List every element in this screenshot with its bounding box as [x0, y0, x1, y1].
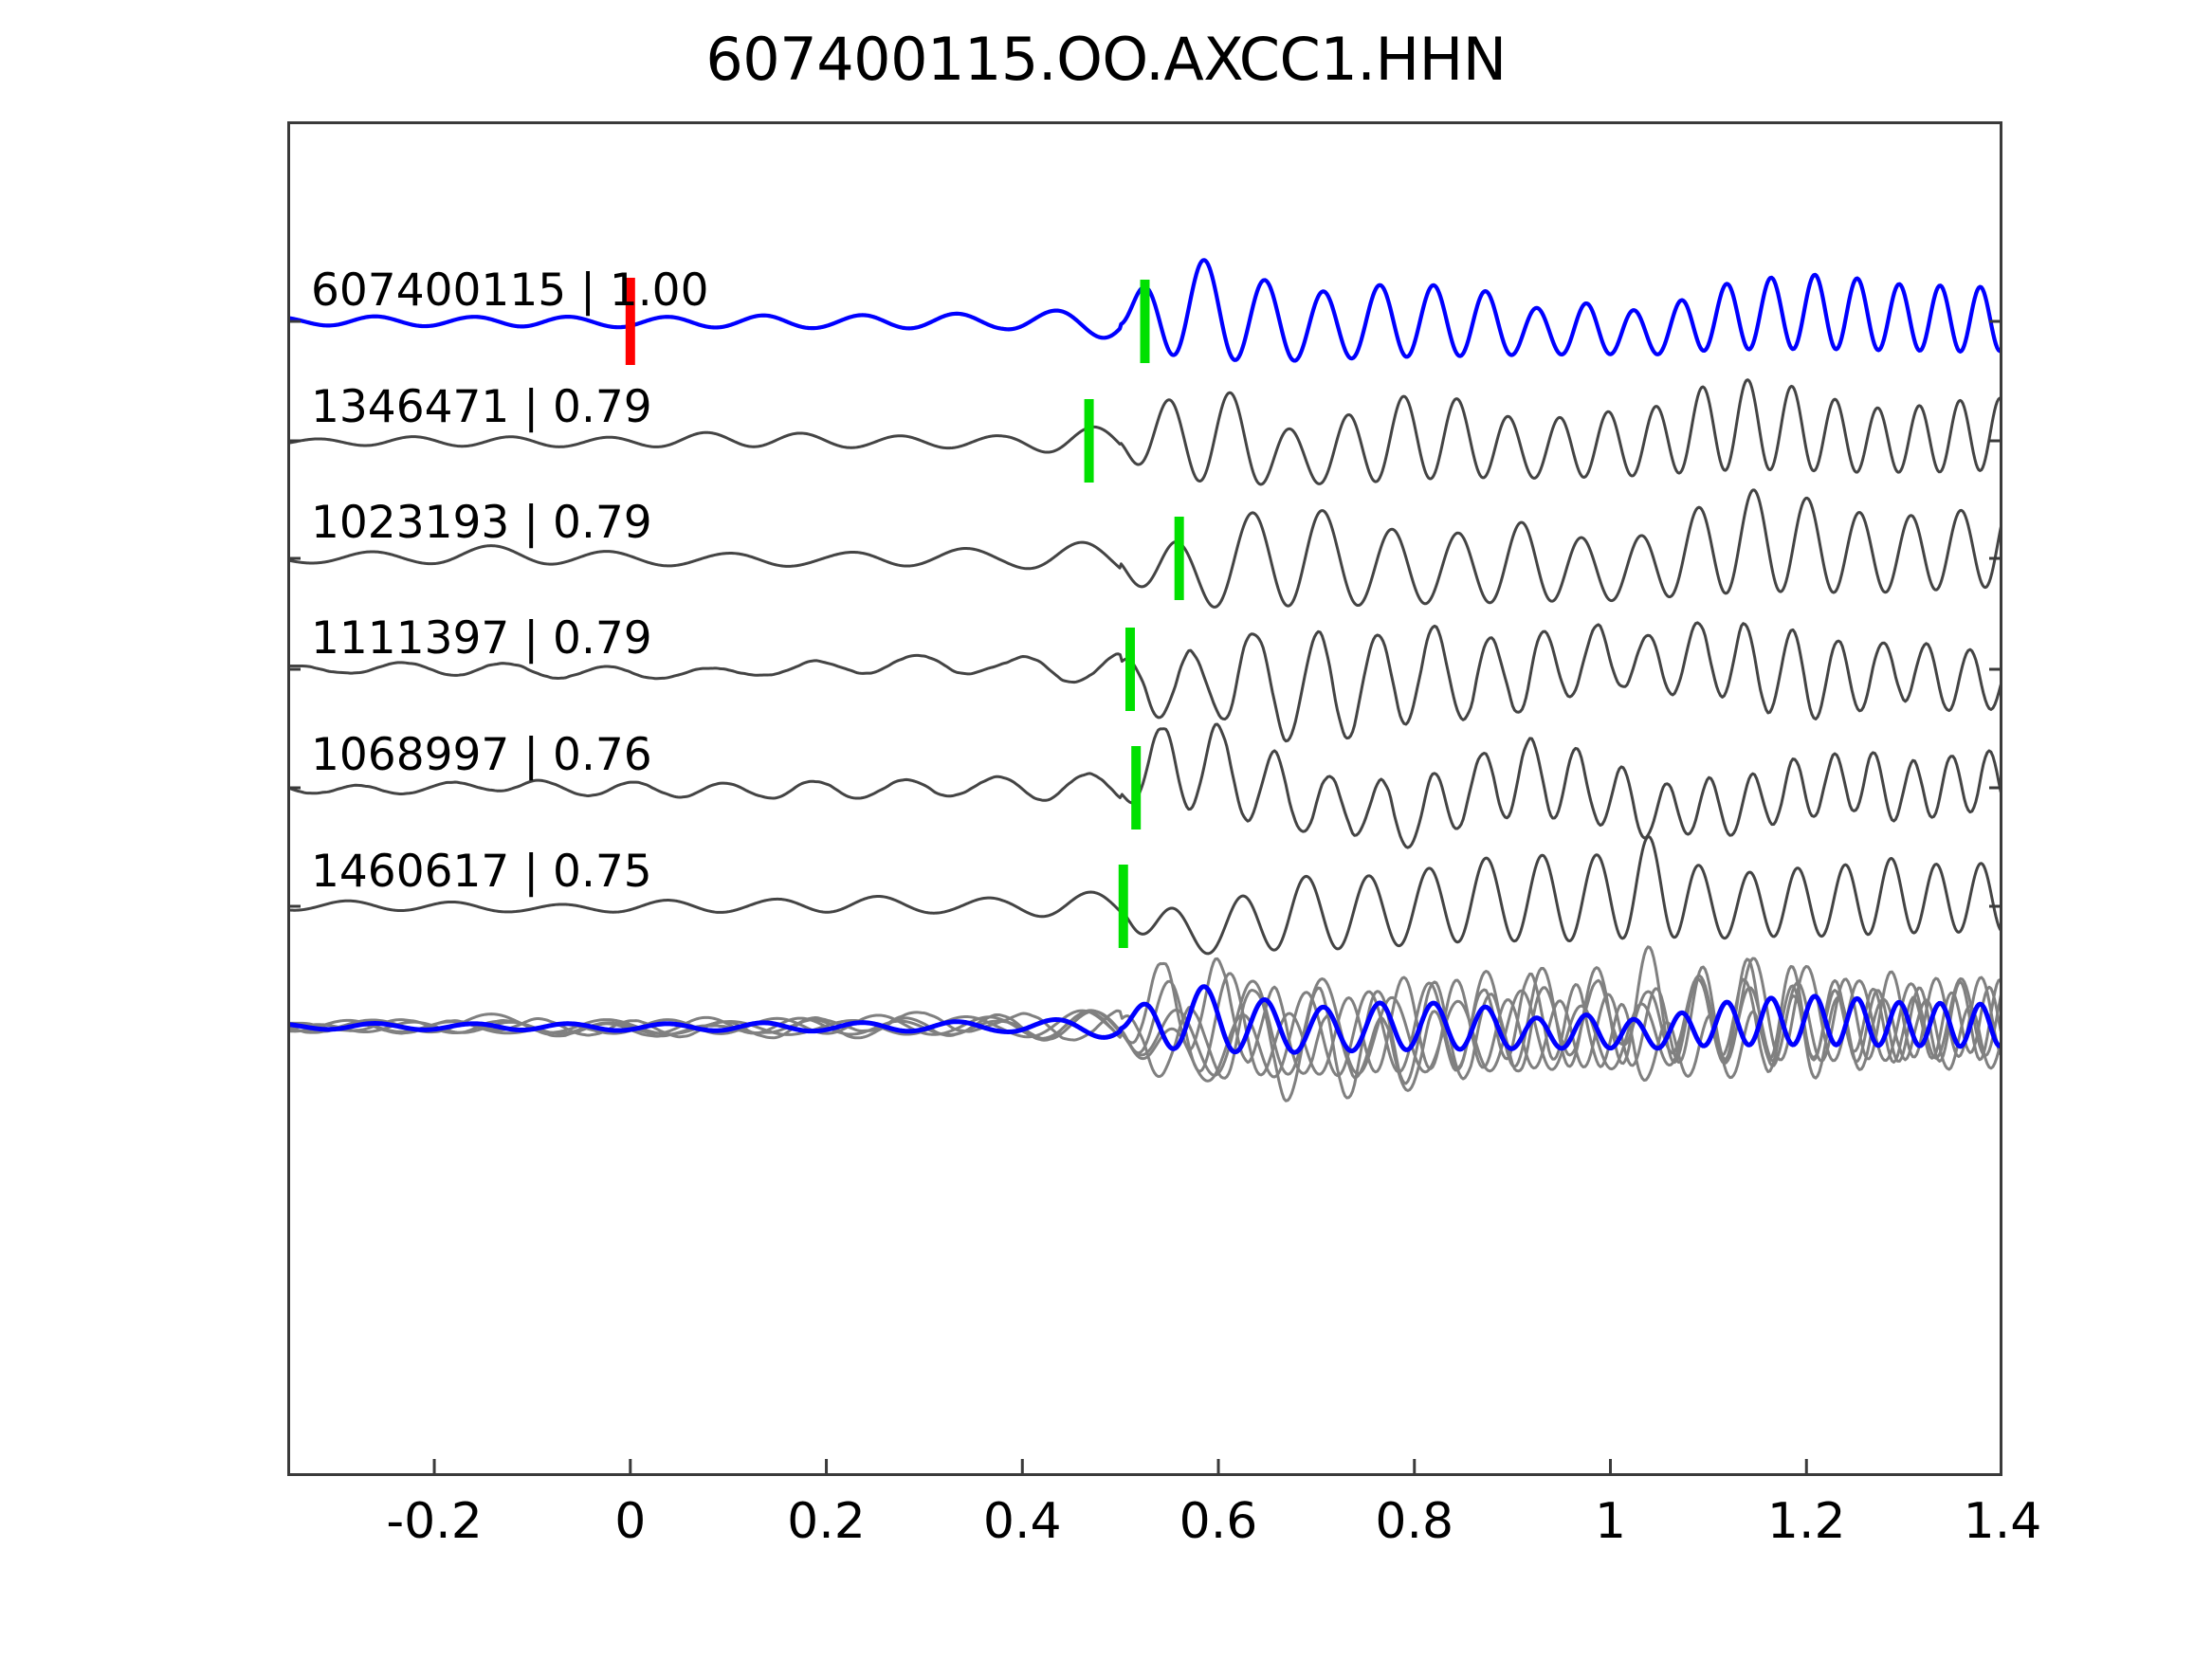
trace-label: 1068997 | 0.76 [311, 733, 652, 777]
arrival-pick-marker [1119, 865, 1128, 948]
x-tick-label: 1.2 [1767, 1493, 1846, 1550]
x-tick-label: -0.2 [386, 1493, 482, 1550]
axis-tick-group [287, 321, 2002, 1476]
x-tick-label: 1 [1595, 1493, 1626, 1550]
arrival-pick-marker [1085, 399, 1094, 483]
x-tick-label: 0 [614, 1493, 646, 1550]
x-tick-label: 0.6 [1179, 1493, 1258, 1550]
x-axis-tick-labels: -0.200.20.40.60.811.21.4 [287, 1493, 2002, 1559]
waveform-canvas [287, 121, 2002, 1476]
arrival-pick-marker [1175, 517, 1184, 600]
stack-overlay-group [287, 947, 2002, 1101]
arrival-pick-marker [1141, 280, 1150, 363]
waveform-plot-area: 607400115 | 1.001346471 | 0.791023193 | … [287, 121, 2002, 1476]
arrival-pick-marker [1125, 628, 1135, 711]
page-title: 607400115.OO.AXCC1.HHN [0, 25, 2212, 94]
x-tick-label: 1.4 [1964, 1493, 2042, 1550]
trace-label: 1460617 | 0.75 [311, 849, 652, 894]
trace-label: 1346471 | 0.79 [311, 385, 652, 429]
trace-label: 1111397 | 0.79 [311, 616, 652, 661]
seismogram-figure: 607400115.OO.AXCC1.HHN 607400115 | 1.001… [0, 0, 2212, 1659]
trace-label: 607400115 | 1.00 [311, 268, 709, 313]
arrival-pick-marker [1131, 746, 1141, 829]
x-tick-label: 0.2 [787, 1493, 866, 1550]
x-tick-label: 0.8 [1375, 1493, 1453, 1550]
trace-label: 1023193 | 0.79 [311, 501, 652, 545]
x-tick-label: 0.4 [983, 1493, 1062, 1550]
pick-marker-group [626, 278, 1184, 948]
